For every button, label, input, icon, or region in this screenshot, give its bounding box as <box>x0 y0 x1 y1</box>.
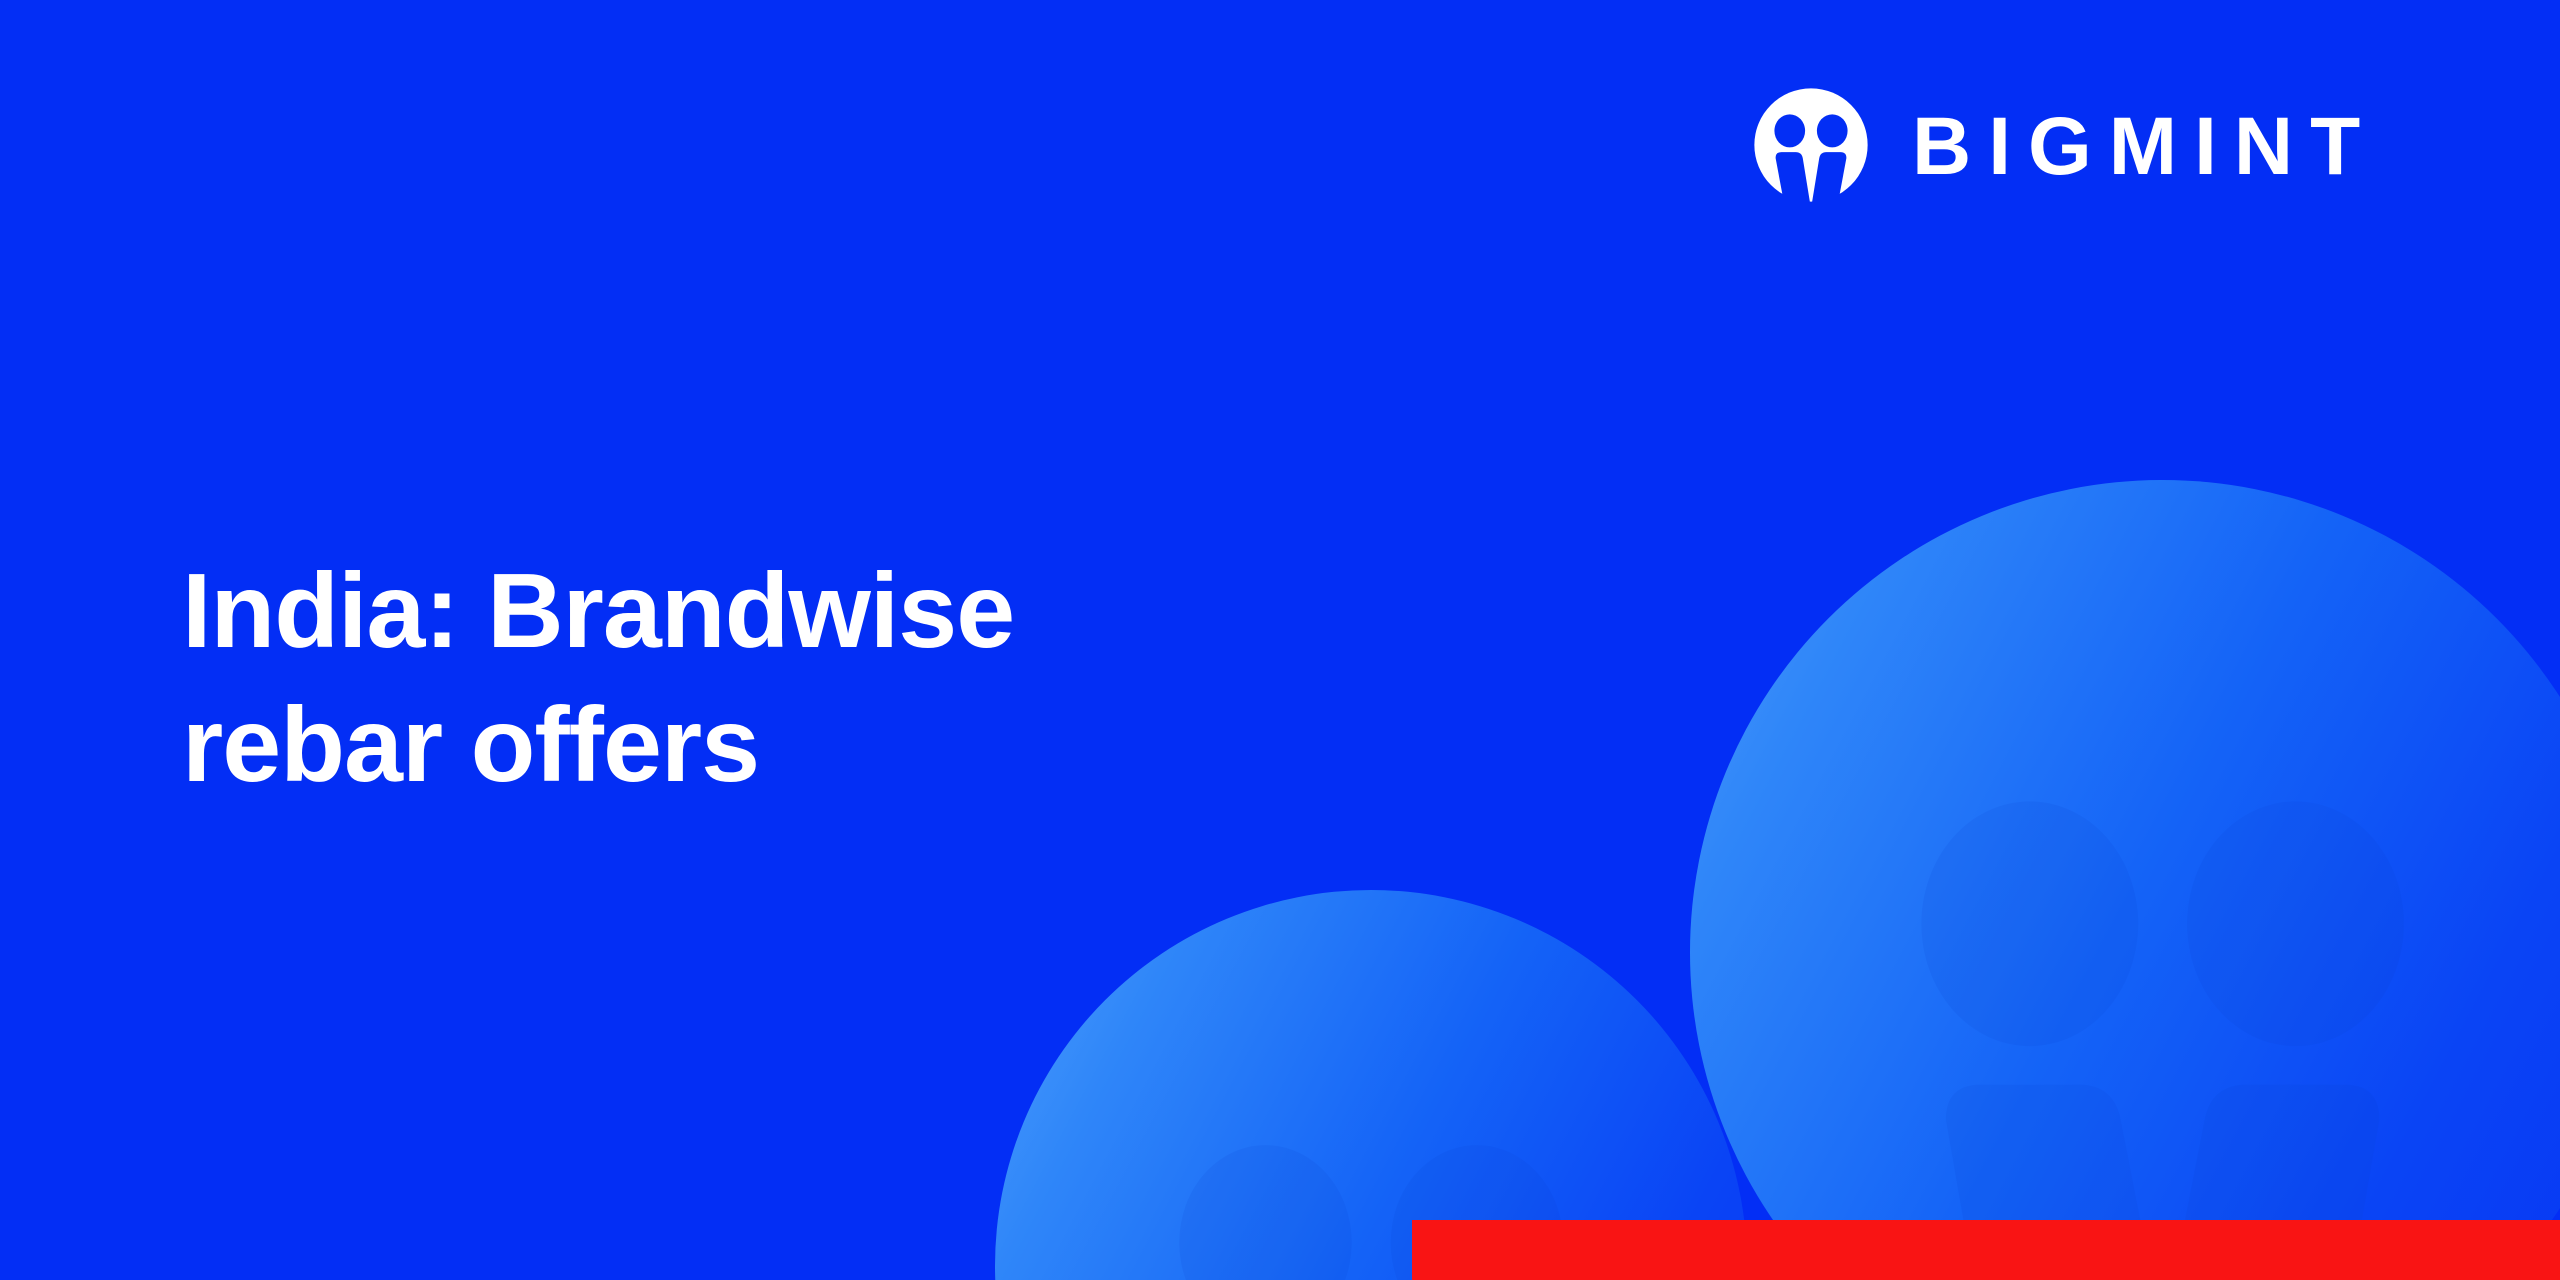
slide-canvas: India: Brandwise rebar offers <box>0 0 2560 1280</box>
brand-logo[interactable]: BIGMINT <box>1752 86 2377 204</box>
page-title: India: Brandwise rebar offers <box>182 545 1282 812</box>
large-gradient-circle <box>1690 480 2560 1280</box>
brand-wordmark: BIGMINT <box>1912 102 2377 188</box>
bigmint-two-figures-icon <box>1752 86 1870 204</box>
bigmint-two-figures-watermark-icon <box>1813 707 2512 1280</box>
red-accent-bar <box>1412 1220 2560 1280</box>
